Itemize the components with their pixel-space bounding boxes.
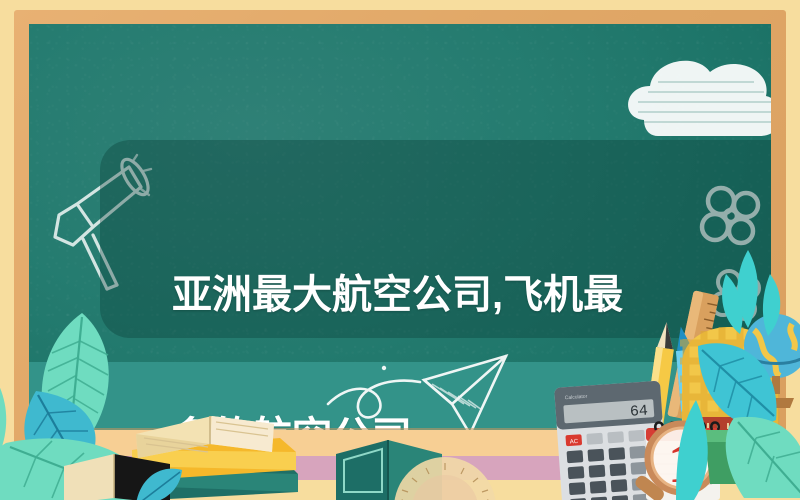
- desk-surface: [29, 430, 771, 456]
- desk-front-panel: [29, 456, 771, 480]
- page-title-line-1: 亚洲最大航空公司,飞机最: [172, 272, 642, 319]
- cover-image: 亚洲最大航空公司,飞机最 多的航空公司: [0, 0, 800, 500]
